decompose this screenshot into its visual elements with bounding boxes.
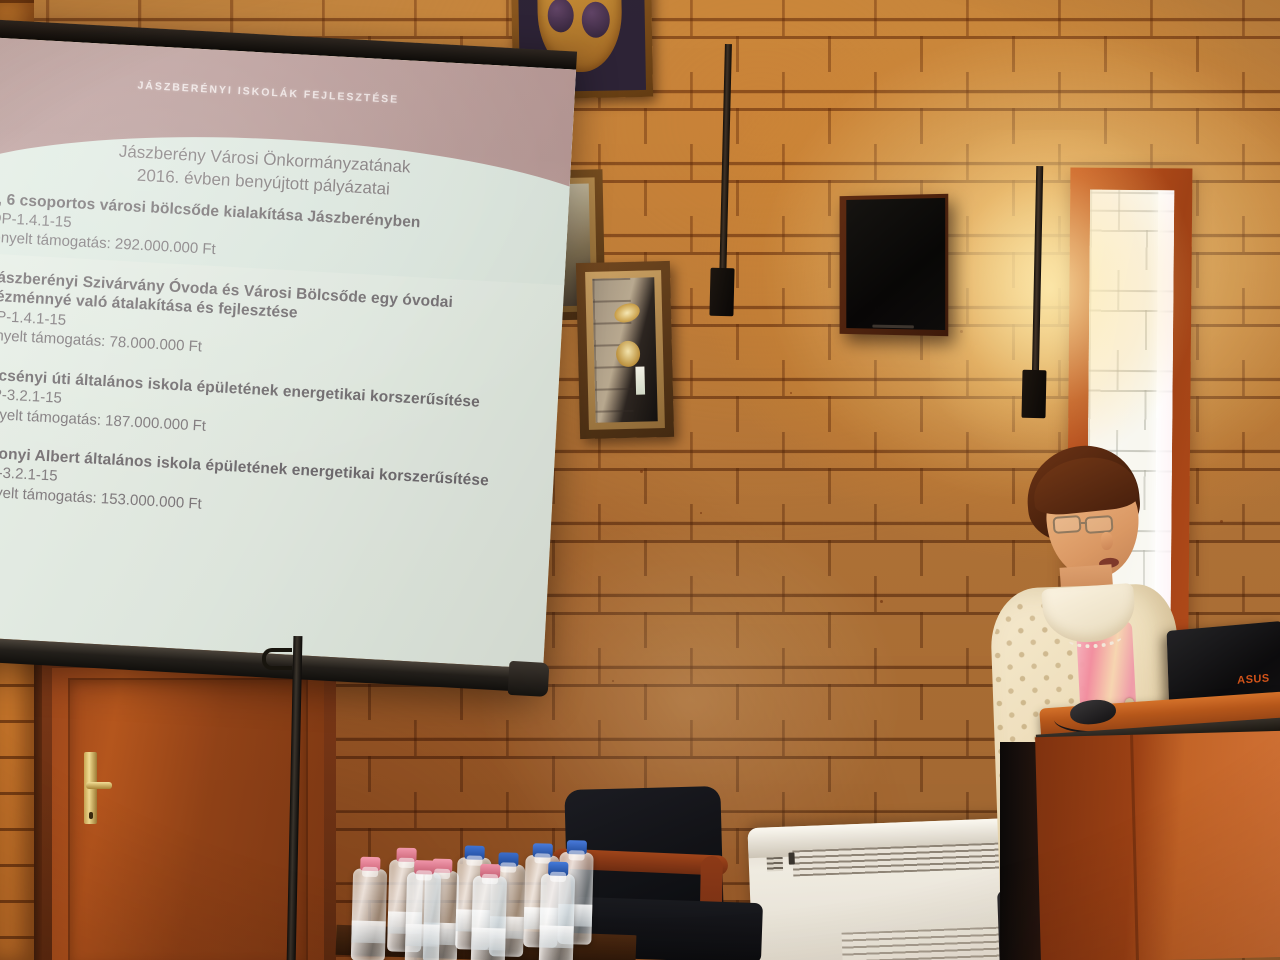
mirror-reflected-lamp: [616, 341, 641, 368]
eyeglasses-left-lens: [1052, 515, 1081, 534]
bottle-neck: [500, 862, 516, 872]
wall-sconce-right-base: [1022, 370, 1047, 418]
air-conditioner-sensor: [788, 852, 794, 864]
bottle-neck: [362, 867, 378, 877]
bottle-neck: [398, 858, 414, 868]
water-bottle[interactable]: [405, 872, 441, 960]
water-bottle[interactable]: [539, 873, 575, 960]
air-conditioner-controls[interactable]: [767, 857, 784, 872]
slide-project-item: Bercsényi úti általános iskola épületéne…: [0, 365, 532, 454]
screen-tripod-bracket: [262, 648, 292, 670]
bottle-label: [539, 925, 574, 948]
crest-charge: [581, 2, 610, 38]
presentation-slide: JÁSZBERÉNYI ISKOLÁK FEJLESZTÉSE Jászberé…: [0, 36, 576, 669]
bottle-neck: [416, 870, 432, 880]
water-bottle[interactable]: [471, 876, 507, 960]
mirror-glass: [592, 277, 657, 422]
wall-speaker: [840, 194, 949, 336]
presentation-photo: JÁSZBERÉNYI ISKOLÁK FEJLESZTÉSE Jászberé…: [0, 0, 1280, 960]
mirror-reflected-window: [635, 367, 645, 395]
presenter-nose: [1101, 532, 1113, 550]
bottle-neck: [482, 874, 498, 884]
wall-sconce-left-base: [709, 268, 734, 317]
mirror-frame: [576, 261, 674, 439]
bottle-label: [471, 928, 506, 951]
speaker-grille: [846, 198, 945, 330]
podium-body: [1035, 731, 1280, 960]
bottle-neck: [568, 850, 584, 860]
bottle-neck: [550, 872, 566, 882]
eyeglasses-bridge: [1081, 522, 1087, 524]
bottle-label: [351, 920, 386, 943]
water-bottle-group: [351, 864, 623, 960]
door-keyhole: [89, 812, 93, 819]
door-panel: [68, 678, 308, 960]
bottle-label: [405, 924, 440, 947]
projection-screen-endcap: [508, 661, 550, 697]
crest-charge: [547, 0, 574, 33]
eyeglasses-right-lens: [1084, 515, 1113, 534]
asus-logo: ASUS: [1238, 672, 1271, 686]
slide-project-item: Apponyi Albert általános iskola épületén…: [0, 443, 528, 532]
slide-project-item: A jászberényi Szivárvány Óvoda és Városi…: [0, 267, 537, 375]
projection-screen: JÁSZBERÉNYI ISKOLÁK FEJLESZTÉSE Jászberé…: [0, 18, 577, 691]
water-bottle[interactable]: [351, 868, 387, 960]
door-handle[interactable]: [86, 782, 112, 789]
slide-body: Jászberény Városi Önkormányzatának 2016.…: [0, 36, 576, 669]
